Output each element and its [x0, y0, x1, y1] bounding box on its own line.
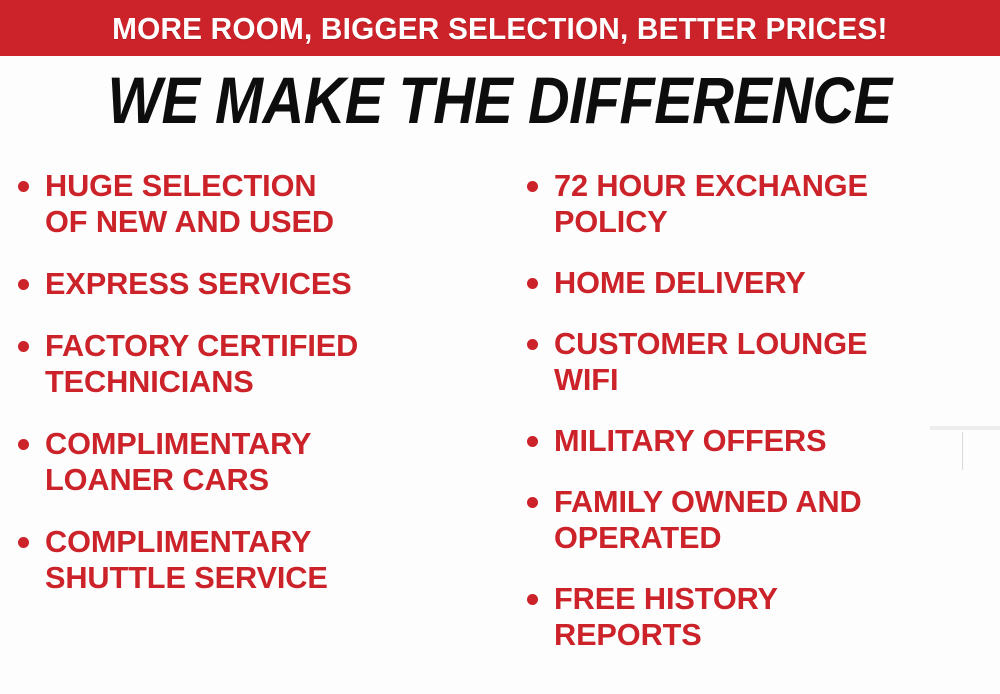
list-item-label: FREE HISTORY REPORTS — [554, 581, 778, 653]
bullet-dot-icon — [18, 279, 29, 290]
list-item: FREE HISTORY REPORTS — [527, 581, 1000, 653]
bullet-dot-icon — [18, 341, 29, 352]
list-item: 72 HOUR EXCHANGE POLICY — [527, 168, 1000, 240]
list-item-label: HOME DELIVERY — [554, 265, 806, 301]
list-item: HOME DELIVERY — [527, 265, 1000, 301]
main-headline: WE MAKE THE DIFFERENCE — [108, 69, 892, 135]
list-item-label: FACTORY CERTIFIED TECHNICIANS — [45, 328, 358, 400]
bullet-dot-icon — [527, 339, 538, 350]
promotional-poster: MORE ROOM, BIGGER SELECTION, BETTER PRIC… — [0, 0, 1000, 694]
list-item-label: COMPLIMENTARY SHUTTLE SERVICE — [45, 524, 328, 596]
top-banner: MORE ROOM, BIGGER SELECTION, BETTER PRIC… — [0, 0, 1000, 56]
list-item: FAMILY OWNED AND OPERATED — [527, 484, 1000, 556]
list-item-label: FAMILY OWNED AND OPERATED — [554, 484, 862, 556]
features-column-right: 72 HOUR EXCHANGE POLICY HOME DELIVERY CU… — [505, 156, 1000, 694]
list-item-label: EXPRESS SERVICES — [45, 266, 352, 302]
bullet-dot-icon — [527, 278, 538, 289]
bullet-dot-icon — [527, 436, 538, 447]
features-column-left: HUGE SELECTION OF NEW AND USED EXPRESS S… — [0, 156, 505, 694]
list-item-label: 72 HOUR EXCHANGE POLICY — [554, 168, 868, 240]
bullet-dot-icon — [18, 537, 29, 548]
bullet-dot-icon — [527, 181, 538, 192]
list-item-label: CUSTOMER LOUNGE WIFI — [554, 326, 867, 398]
list-item: COMPLIMENTARY SHUTTLE SERVICE — [18, 524, 505, 596]
list-item: EXPRESS SERVICES — [18, 266, 505, 302]
banner-headline-text: MORE ROOM, BIGGER SELECTION, BETTER PRIC… — [112, 13, 887, 44]
bullet-dot-icon — [18, 181, 29, 192]
bullet-dot-icon — [527, 594, 538, 605]
list-item: HUGE SELECTION OF NEW AND USED — [18, 168, 505, 240]
list-item-label: COMPLIMENTARY LOANER CARS — [45, 426, 311, 498]
bullet-dot-icon — [527, 497, 538, 508]
list-item: FACTORY CERTIFIED TECHNICIANS — [18, 328, 505, 400]
scan-artifact — [962, 432, 963, 470]
list-item-label: HUGE SELECTION OF NEW AND USED — [45, 168, 334, 240]
bullet-dot-icon — [18, 439, 29, 450]
list-item: CUSTOMER LOUNGE WIFI — [527, 326, 1000, 398]
scan-artifact — [930, 426, 1000, 430]
features-columns: HUGE SELECTION OF NEW AND USED EXPRESS S… — [0, 156, 1000, 694]
list-item: COMPLIMENTARY LOANER CARS — [18, 426, 505, 498]
list-item-label: MILITARY OFFERS — [554, 423, 826, 459]
headline-container: WE MAKE THE DIFFERENCE — [0, 64, 1000, 140]
